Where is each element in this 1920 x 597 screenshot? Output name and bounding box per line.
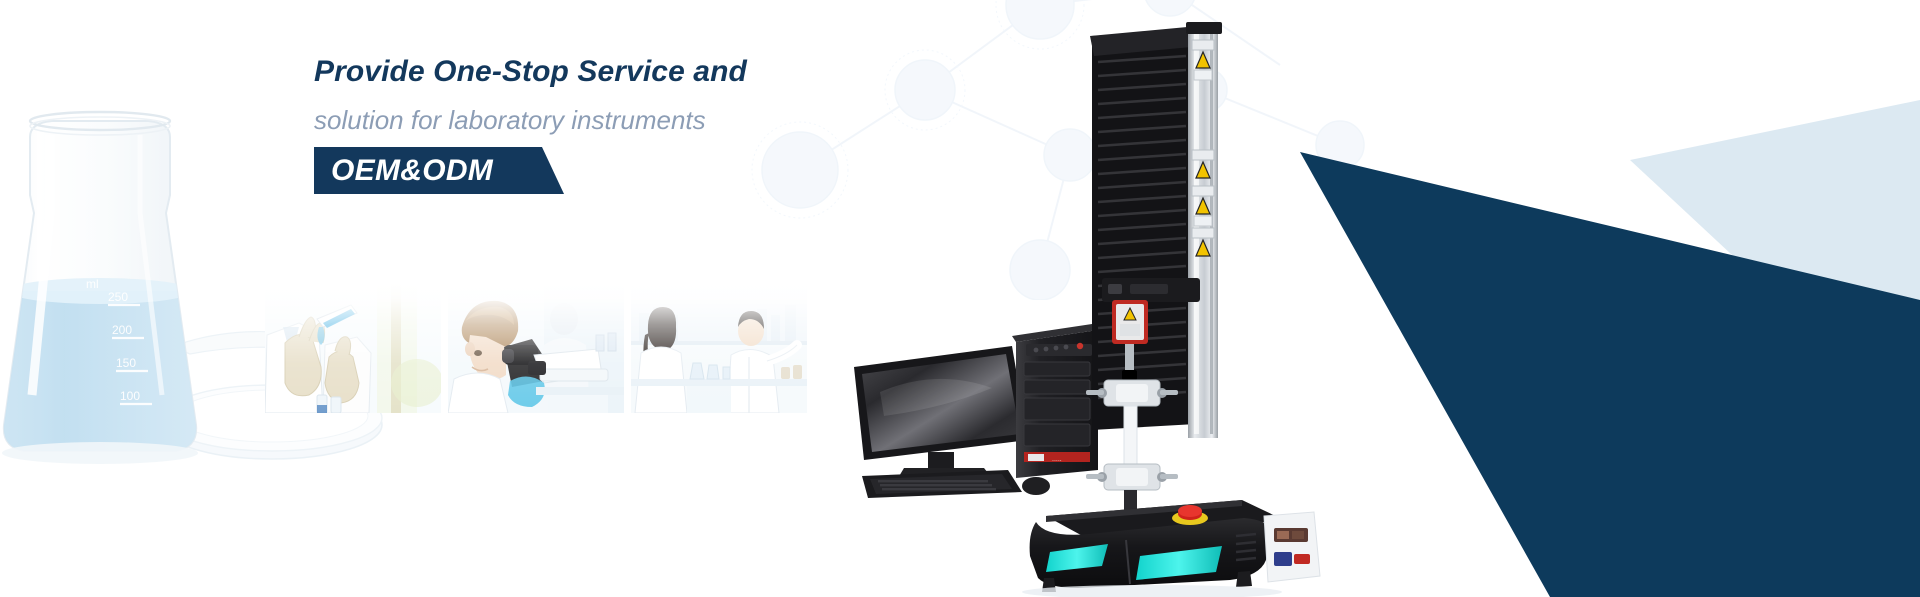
headline-block: Provide One-Stop Service and solution fo… [314, 55, 954, 194]
svg-text:150: 150 [116, 356, 136, 370]
erlenmeyer-flask: ml 250 200 150 100 [0, 112, 220, 475]
promo-banner: ml 250 200 150 100 Provide One-Stop Serv… [0, 0, 1920, 597]
navy-triangle-wedge [1300, 152, 1920, 597]
svg-text:200: 200 [112, 323, 132, 337]
page-subtitle: solution for laboratory instruments [314, 106, 954, 135]
page-title: Provide One-Stop Service and [314, 55, 954, 88]
photo-strip-row [265, 283, 807, 413]
lower-grip [1086, 464, 1178, 490]
warning-labels [1192, 40, 1214, 256]
keyboard [862, 470, 1050, 498]
photo-microscope-researcher [448, 283, 624, 413]
svg-text:.....: ..... [1052, 456, 1062, 463]
svg-text:ml: ml [86, 277, 99, 291]
emergency-stop-button [1172, 505, 1208, 525]
upper-grip [1086, 380, 1178, 406]
universal-tensile-testing-machine [1022, 22, 1320, 597]
desktop-monitor [854, 346, 1028, 478]
photo-laboratory-workers [631, 283, 807, 413]
oem-odm-label: OEM&ODM [331, 154, 493, 187]
svg-text:250: 250 [108, 290, 128, 304]
computer-tower: ..... [1012, 324, 1098, 478]
photo-gloved-hands-pipette [265, 283, 441, 413]
light-blue-triangle [1630, 100, 1920, 430]
machine-base [1022, 500, 1320, 597]
svg-text:100: 100 [120, 389, 140, 403]
oem-odm-tag: OEM&ODM [314, 147, 564, 194]
decorative-shapes [1300, 0, 1920, 597]
